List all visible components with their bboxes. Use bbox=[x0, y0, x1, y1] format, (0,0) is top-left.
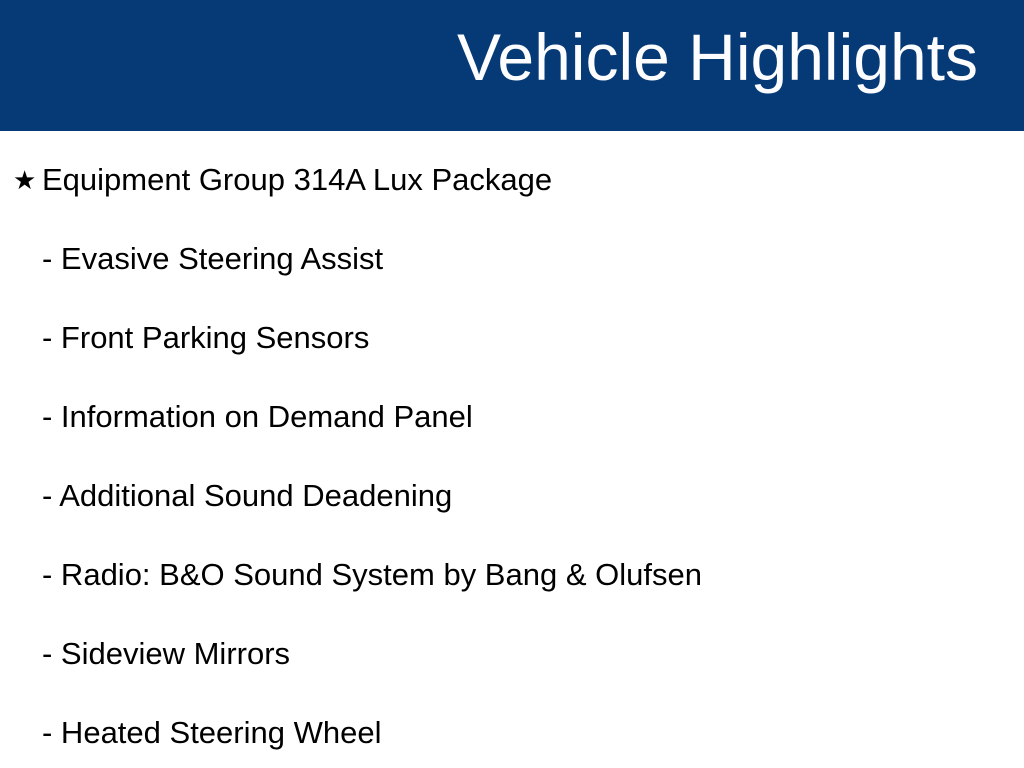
list-item-label: - Heated Steering Wheel bbox=[42, 713, 381, 753]
list-item-label: - Front Parking Sensors bbox=[42, 318, 369, 358]
list-item-label: Equipment Group 314A Lux Package bbox=[42, 160, 552, 200]
list-item: - Sideview Mirrors bbox=[0, 634, 1024, 674]
list-item-label: - Additional Sound Deadening bbox=[42, 476, 452, 516]
list-item-label: - Information on Demand Panel bbox=[42, 397, 473, 437]
list-item: - Radio: B&O Sound System by Bang & Oluf… bbox=[0, 555, 1024, 595]
bullet-list: ★Equipment Group 314A Lux Package- Evasi… bbox=[0, 131, 1024, 768]
list-item-label: - Sideview Mirrors bbox=[42, 634, 290, 674]
list-item: - Information on Demand Panel bbox=[0, 397, 1024, 437]
list-item: - Evasive Steering Assist bbox=[0, 239, 1024, 279]
list-item-label: - Evasive Steering Assist bbox=[42, 239, 383, 279]
slide-header-band: Vehicle Highlights bbox=[0, 0, 1024, 131]
list-item-label: - Radio: B&O Sound System by Bang & Oluf… bbox=[42, 555, 702, 595]
list-item: - Heated Steering Wheel bbox=[0, 713, 1024, 753]
list-item: ★Equipment Group 314A Lux Package bbox=[0, 160, 1024, 200]
star-bullet-icon: ★ bbox=[13, 160, 39, 200]
list-item: - Front Parking Sensors bbox=[0, 318, 1024, 358]
page-title: Vehicle Highlights bbox=[457, 24, 978, 90]
list-item: - Additional Sound Deadening bbox=[0, 476, 1024, 516]
